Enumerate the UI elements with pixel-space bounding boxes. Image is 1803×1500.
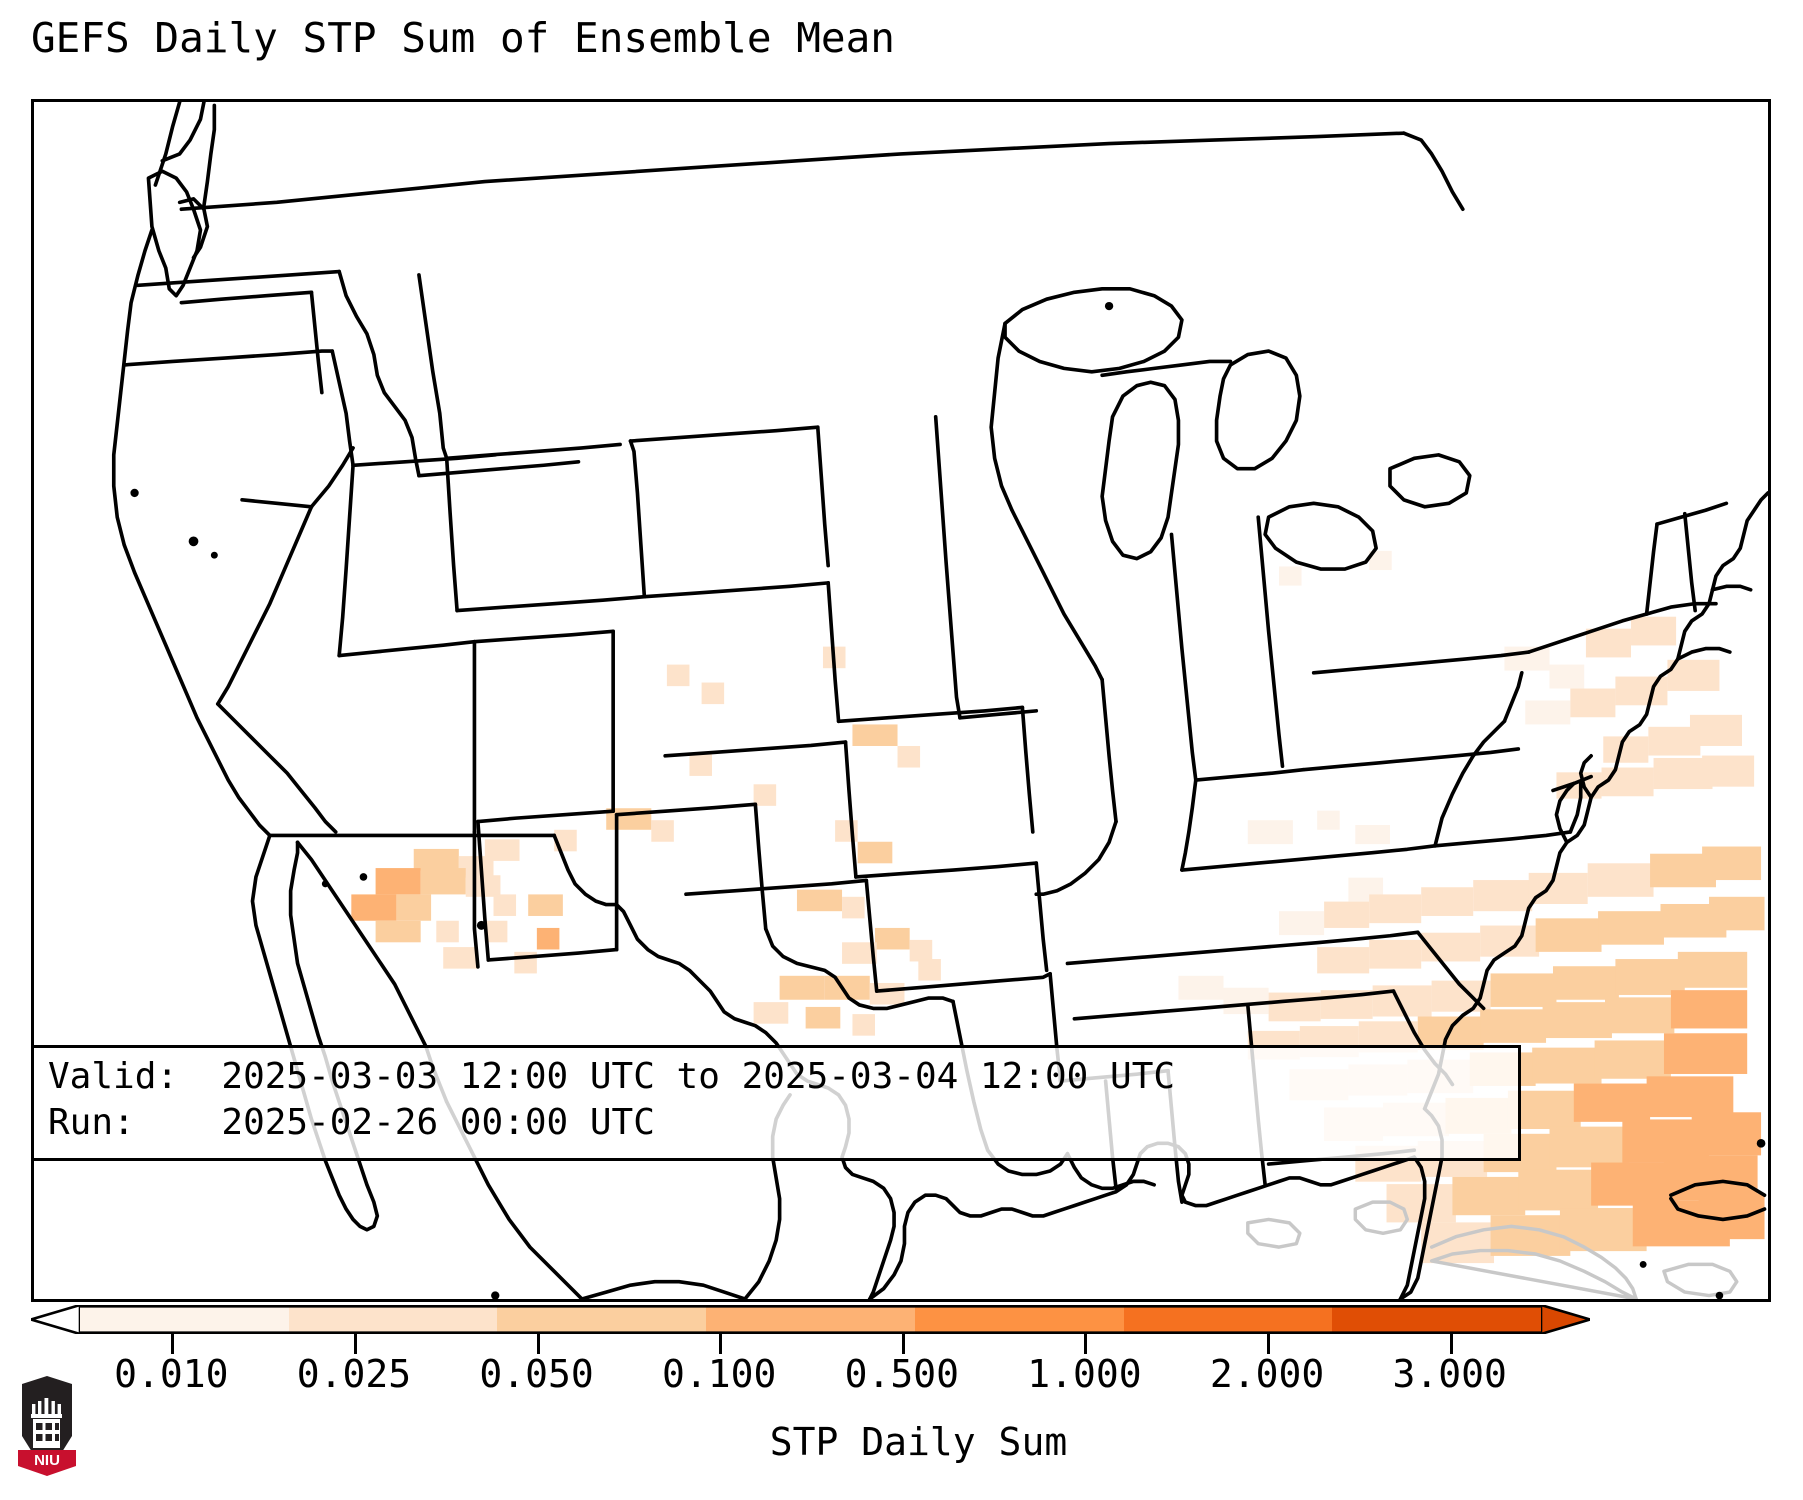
colorbar-tick-0 — [171, 1334, 174, 1354]
colorbar-tick-label-2: 0.050 — [479, 1352, 593, 1396]
page-title: GEFS Daily STP Sum of Ensemble Mean — [31, 14, 895, 62]
colorbar-axis-label: STP Daily Sum — [0, 1420, 1803, 1464]
colorbar-segment-6 — [1332, 1305, 1541, 1334]
colorbar-segment-4 — [915, 1305, 1124, 1334]
colorbar-axis-label-text: STP Daily Sum — [770, 1420, 1067, 1464]
valid-time-text: Valid: 2025-03-03 12:00 UTC to 2025-03-0… — [48, 1056, 1175, 1097]
colorbar-segment-2 — [497, 1305, 706, 1334]
colorbar-extend-left — [31, 1305, 80, 1334]
colorbar-tick-7 — [1450, 1334, 1453, 1354]
niu-logo-text: NIU — [34, 1452, 60, 1469]
colorbar-tick-2 — [537, 1334, 540, 1354]
colorbar-extend-right — [1541, 1305, 1590, 1334]
colorbar-tick-label-0: 0.010 — [114, 1352, 228, 1396]
colorbar-tick-label-6: 2.000 — [1210, 1352, 1324, 1396]
colorbar-segment-0 — [80, 1305, 289, 1334]
colorbar-tick-3 — [719, 1334, 722, 1354]
colorbar-segment-5 — [1124, 1305, 1333, 1334]
colorbar-segment-3 — [706, 1305, 915, 1334]
colorbar-segment-1 — [289, 1305, 498, 1334]
run-time-text: Run: 2025-02-26 00:00 UTC — [48, 1102, 655, 1143]
colorbar-tick-labels: 0.0100.0250.0500.1000.5001.0002.0003.000 — [31, 1352, 1771, 1400]
colorbar-tick-label-4: 0.500 — [845, 1352, 959, 1396]
niu-logo: NIU — [16, 1374, 78, 1478]
annotation-box: Valid: 2025-03-03 12:00 UTC to 2025-03-0… — [31, 1045, 1521, 1161]
colorbar-tick-label-5: 1.000 — [1027, 1352, 1141, 1396]
colorbar-tick-label-3: 0.100 — [662, 1352, 776, 1396]
colorbar-tick-4 — [902, 1334, 905, 1354]
colorbar-tick-label-1: 0.025 — [297, 1352, 411, 1396]
colorbar-tick-label-7: 3.000 — [1392, 1352, 1506, 1396]
colorbar-tick-1 — [354, 1334, 357, 1354]
colorbar-tick-5 — [1084, 1334, 1087, 1354]
colorbar-segments — [80, 1305, 1541, 1334]
colorbar-tick-6 — [1267, 1334, 1270, 1354]
